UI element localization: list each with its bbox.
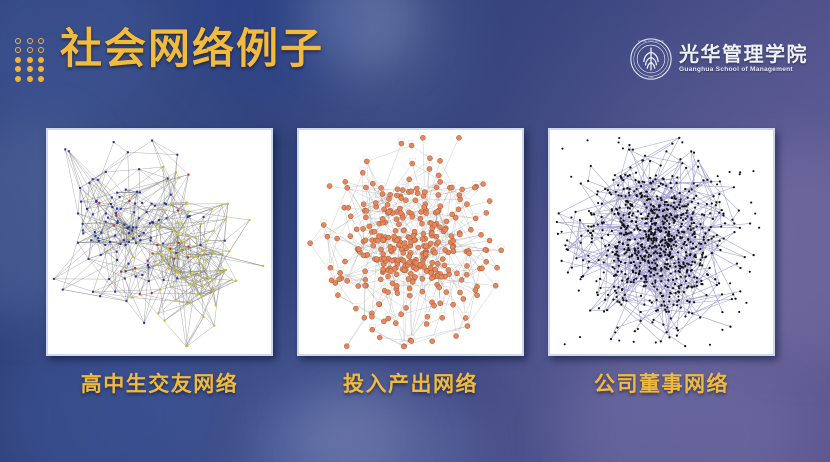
background-blob xyxy=(300,395,410,462)
svg-text:PEKING UNIVERSITY: PEKING UNIVERSITY xyxy=(638,40,664,43)
slide-root: 社会网络例子 PEKING UNIVERSITY 18 xyxy=(0,0,830,462)
figure-panel-input-output[interactable] xyxy=(297,128,524,356)
figure-panel-row xyxy=(0,128,830,360)
figure-caption-corporate-board: 公司董事网络 xyxy=(548,368,775,398)
figure-panel-corporate-board[interactable] xyxy=(548,128,775,356)
svg-text:1898: 1898 xyxy=(648,76,654,79)
figure-panel-high-school-friendship[interactable] xyxy=(46,128,273,356)
figure-caption-high-school-friendship: 高中生交友网络 xyxy=(46,368,273,398)
peking-university-seal-icon: PEKING UNIVERSITY 1898 xyxy=(630,38,672,80)
slide-header: 社会网络例子 PEKING UNIVERSITY 18 xyxy=(0,0,830,112)
network-graph xyxy=(550,130,773,354)
figure-caption-input-output: 投入产出网络 xyxy=(297,368,524,398)
dot-grid-icon xyxy=(15,38,61,82)
guanghua-logo: PEKING UNIVERSITY 1898 光华管理学院 Guanghua S… xyxy=(630,33,808,85)
logo-english-name: Guanghua School of Management xyxy=(679,67,808,74)
page-title: 社会网络例子 xyxy=(60,28,324,70)
logo-chinese-name: 光华管理学院 xyxy=(679,44,808,64)
network-graph xyxy=(48,130,271,354)
network-graph xyxy=(299,130,522,354)
